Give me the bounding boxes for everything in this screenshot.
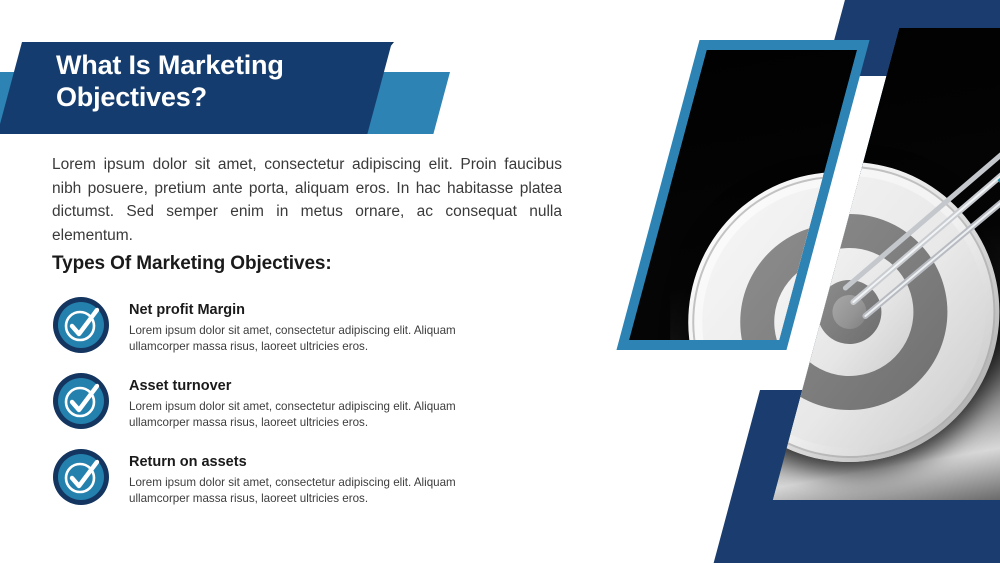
objectives-list: Net profit Margin Lorem ipsum dolor sit …: [52, 296, 552, 524]
list-item-description: Lorem ipsum dolor sit amet, consectetur …: [129, 323, 489, 356]
list-item[interactable]: Return on assets Lorem ipsum dolor sit a…: [52, 448, 552, 508]
photo-left-image: [629, 50, 857, 340]
list-item-description: Lorem ipsum dolor sit amet, consectetur …: [129, 475, 489, 508]
check-circle-icon: [52, 372, 110, 430]
page-title: What Is Marketing Objectives?: [56, 50, 386, 114]
body-paragraph: Lorem ipsum dolor sit amet, consectetur …: [52, 153, 562, 247]
sub-heading: Types Of Marketing Objectives:: [52, 253, 332, 275]
presentation-slide: What Is Marketing Objectives? Lorem ipsu…: [0, 0, 1000, 563]
check-circle-icon: [52, 296, 110, 354]
check-circle-icon: [52, 448, 110, 506]
list-item[interactable]: Asset turnover Lorem ipsum dolor sit ame…: [52, 372, 552, 432]
list-item-title: Asset turnover: [129, 378, 489, 394]
list-item-title: Net profit Margin: [129, 302, 489, 318]
list-item[interactable]: Net profit Margin Lorem ipsum dolor sit …: [52, 296, 552, 356]
list-item-description: Lorem ipsum dolor sit amet, consectetur …: [129, 399, 489, 432]
list-item-title: Return on assets: [129, 454, 489, 470]
